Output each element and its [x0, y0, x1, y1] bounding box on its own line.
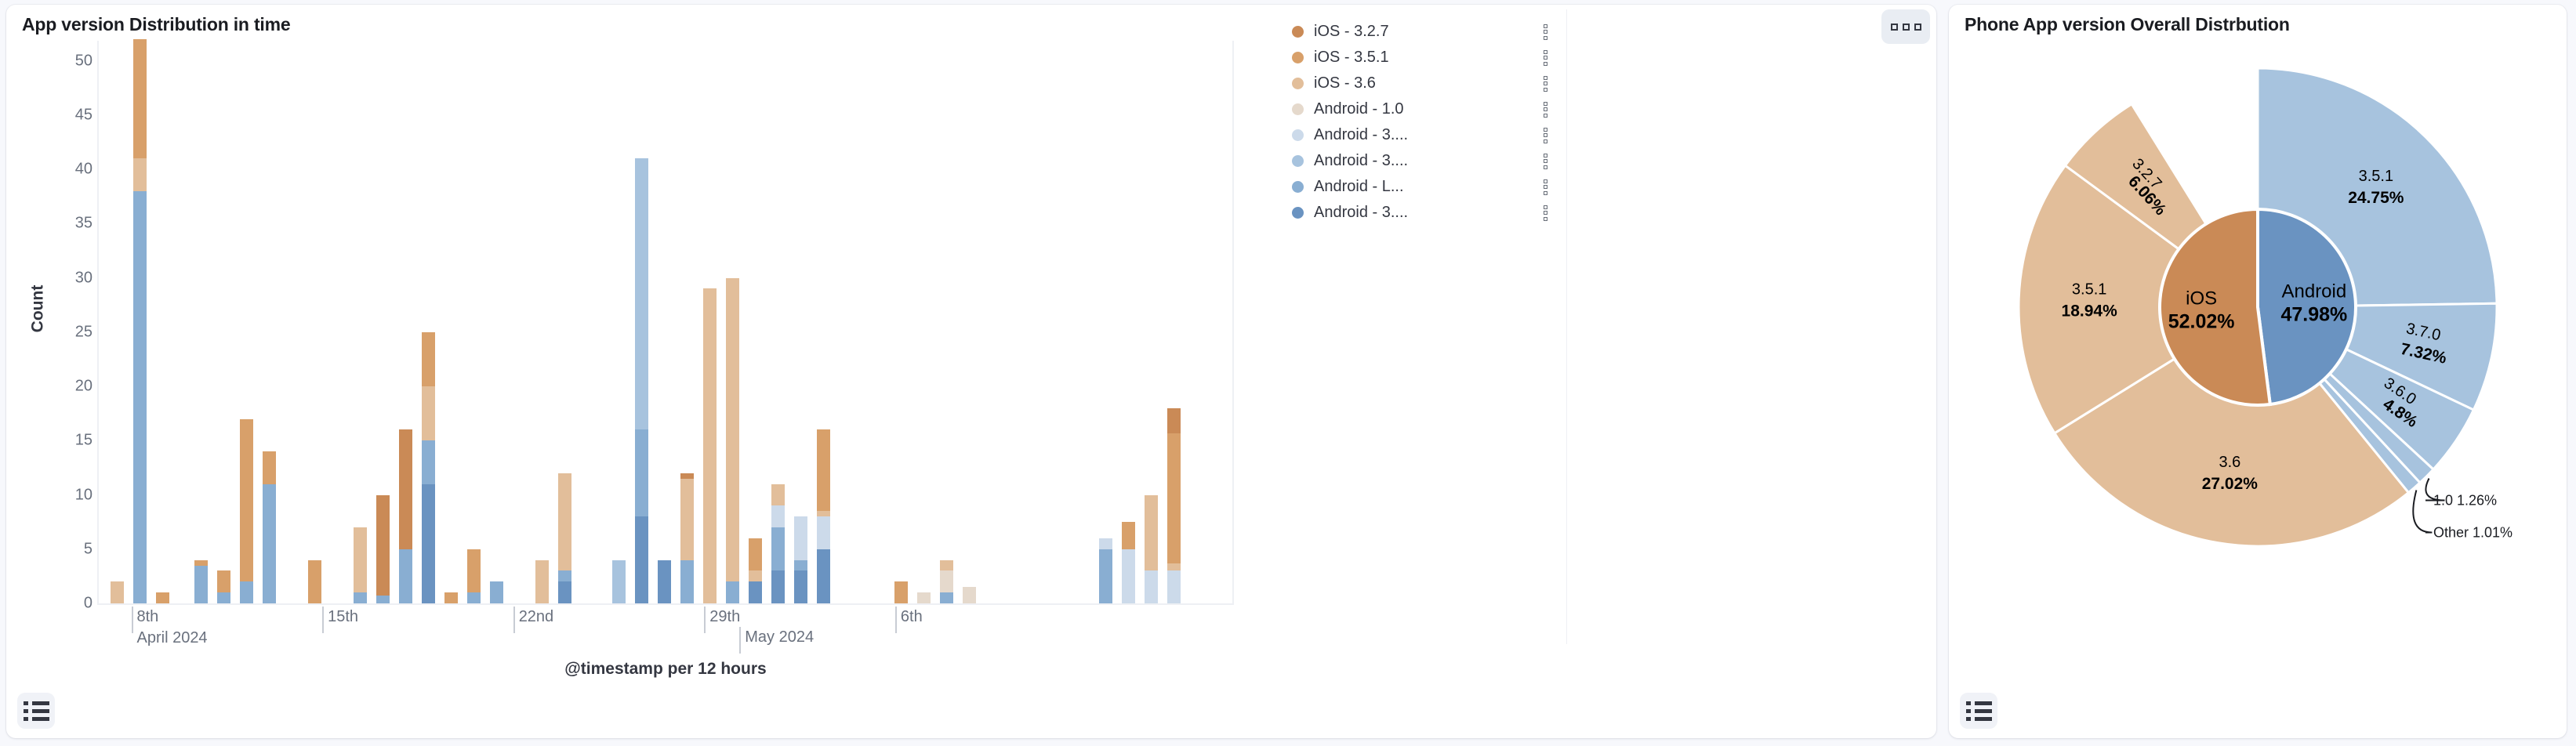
legend-color-dot	[1292, 103, 1304, 115]
legend-item[interactable]: Android - 3....	[1292, 148, 1551, 174]
panel-app-version-distribution: App version Distribution in time Count 0…	[6, 5, 1936, 738]
legend-item-label: Android - 1.0	[1314, 100, 1544, 118]
bar-segment[interactable]	[422, 440, 435, 483]
dashboard: App version Distribution in time Count 0…	[0, 0, 2576, 746]
legend-item-label: Android - 3....	[1314, 204, 1544, 222]
bar-segment[interactable]	[354, 592, 367, 603]
bar-stack[interactable]	[817, 429, 830, 603]
bar-segment[interactable]	[194, 566, 208, 603]
bar-segment[interactable]	[1167, 570, 1181, 603]
y-axis-tick-label: 45	[75, 106, 93, 124]
sunburst-outer-label-value: 27.02%	[2202, 475, 2259, 493]
bar-stack[interactable]	[917, 592, 931, 603]
bar-segment[interactable]	[1099, 538, 1112, 549]
legend-color-dot	[1292, 181, 1304, 193]
list-icon	[24, 701, 49, 721]
x-tick-secondary: April 2024	[137, 628, 208, 649]
sunburst-outer-label-name: 3.5.1	[2359, 168, 2393, 185]
bar-segment[interactable]	[1099, 549, 1112, 603]
bar-segment[interactable]	[1122, 522, 1135, 549]
legend-item-label: Android - L...	[1314, 178, 1544, 196]
y-axis-ticks: 05101520253035404550	[45, 41, 93, 605]
bar-segment[interactable]	[940, 560, 953, 571]
bar-stack[interactable]	[794, 516, 807, 603]
bar-stack[interactable]	[1145, 495, 1158, 603]
plot-area	[97, 41, 1234, 605]
bar-segment[interactable]	[680, 473, 694, 479]
bar-segment[interactable]	[444, 592, 458, 603]
legend-item[interactable]: Android - 1.0	[1292, 96, 1551, 122]
sunburst-inner-label-name: iOS	[2186, 288, 2217, 310]
bar-segment[interactable]	[1167, 408, 1181, 433]
drag-handle-icon[interactable]	[1544, 102, 1547, 118]
bar-segment[interactable]	[749, 581, 762, 603]
ellipsis-icon	[1891, 24, 1898, 31]
bar-segment[interactable]	[680, 560, 694, 603]
drag-handle-icon[interactable]	[1544, 76, 1547, 92]
bar-segment[interactable]	[749, 538, 762, 571]
bar-stack[interactable]	[558, 473, 571, 603]
bar-segment[interactable]	[612, 560, 626, 603]
bar-segment[interactable]	[940, 570, 953, 592]
bar-stack[interactable]	[612, 560, 626, 603]
drag-handle-icon[interactable]	[1544, 24, 1547, 40]
bar-segment[interactable]	[1145, 570, 1158, 603]
bar-segment[interactable]	[963, 587, 976, 603]
x-axis-tick-label: May 2024	[739, 627, 814, 654]
y-axis-tick-label: 25	[75, 323, 93, 341]
sunburst-callout-label: 1.0 1.26%	[2433, 492, 2497, 508]
bar-segment[interactable]	[680, 479, 694, 560]
bar-segment[interactable]	[940, 592, 953, 603]
bar-segment[interactable]	[308, 560, 321, 603]
bar-segment[interactable]	[467, 592, 481, 603]
bar-segment[interactable]	[1167, 433, 1181, 563]
bar-segment[interactable]	[535, 560, 549, 603]
bar-segment[interactable]	[422, 484, 435, 603]
y-axis-tick-label: 50	[75, 52, 93, 70]
bar-segment[interactable]	[1145, 495, 1158, 571]
legend-item[interactable]: iOS - 3.5.1	[1292, 45, 1551, 71]
bar-stack[interactable]	[490, 581, 503, 603]
legend-item-label: Android - 3....	[1314, 126, 1544, 144]
legend-item[interactable]: Android - 3....	[1292, 200, 1551, 226]
bar-segment[interactable]	[635, 516, 648, 603]
x-axis-tick-label: 8thApril 2024	[132, 607, 208, 633]
y-axis-title: Count	[28, 285, 47, 333]
y-axis-tick-label: 20	[75, 378, 93, 396]
bar-segment[interactable]	[376, 495, 390, 596]
bar-stack[interactable]	[1167, 408, 1181, 603]
bar-segment[interactable]	[558, 473, 571, 571]
bar-segment[interactable]	[703, 288, 717, 603]
bar-segment[interactable]	[558, 581, 571, 603]
bar-stack[interactable]	[635, 158, 648, 603]
x-axis-title: @timestamp per 12 hours	[97, 660, 1234, 679]
sunburst-callout-label: Other 1.01%	[2433, 525, 2513, 541]
bar-stack[interactable]	[399, 429, 412, 603]
bar-segment[interactable]	[771, 527, 785, 570]
bar-segment[interactable]	[133, 158, 147, 191]
bar-stack[interactable]	[194, 560, 208, 603]
drag-handle-icon[interactable]	[1544, 179, 1547, 195]
bar-stack[interactable]	[703, 288, 717, 603]
bar-segment[interactable]	[133, 39, 147, 158]
bar-segment[interactable]	[771, 570, 785, 603]
bar-segment[interactable]	[794, 570, 807, 603]
bar-segment[interactable]	[658, 560, 671, 603]
bar-segment[interactable]	[794, 516, 807, 559]
x-tick-primary: 8th	[137, 607, 208, 628]
bar-segment[interactable]	[217, 570, 230, 592]
sunburst-chart: Android47.98%iOS52.02%3.5.124.75%3.7.07.…	[1949, 33, 2567, 715]
bar-stack[interactable]	[111, 581, 124, 603]
x-axis-tick-label: 22nd	[513, 607, 554, 633]
bar-segment[interactable]	[217, 592, 230, 603]
legend-item-label: iOS - 3.6	[1314, 74, 1544, 92]
bar-stack[interactable]	[444, 592, 458, 603]
bar-segment[interactable]	[894, 581, 908, 603]
drag-handle-icon[interactable]	[1544, 154, 1547, 169]
bar-segment[interactable]	[133, 191, 147, 603]
sunburst-svg[interactable]: Android47.98%iOS52.02%3.5.124.75%3.7.07.…	[1949, 33, 2567, 707]
sunburst-outer-label-value: 24.75%	[2348, 189, 2404, 207]
bar-segment[interactable]	[726, 278, 739, 582]
page-title: App version Distribution in time	[22, 14, 290, 35]
y-axis-tick-label: 5	[84, 540, 93, 558]
x-tick-primary: 15th	[328, 607, 358, 628]
bar-stack[interactable]	[658, 560, 671, 603]
bar-segment[interactable]	[635, 158, 648, 429]
x-axis-tick-label: 6th	[895, 607, 923, 633]
bar-segment[interactable]	[817, 549, 830, 603]
bar-segment[interactable]	[817, 429, 830, 511]
bar-stack[interactable]	[308, 560, 321, 603]
x-tick-primary: 29th	[709, 607, 740, 628]
sunburst-outer-label-name: 3.6	[2219, 454, 2240, 471]
legend-item-label: iOS - 3.5.1	[1314, 49, 1544, 67]
drag-handle-icon[interactable]	[1544, 205, 1547, 221]
bar-segment[interactable]	[194, 560, 208, 566]
sunburst-outer-label-name: 3.5.1	[2072, 281, 2106, 298]
bar-segment[interactable]	[467, 549, 481, 592]
legend-item[interactable]: Android - 3....	[1292, 122, 1551, 148]
legend-toggle-button[interactable]	[17, 693, 55, 729]
bar-stack[interactable]	[376, 495, 390, 603]
list-icon	[1966, 701, 1992, 721]
bar-segment[interactable]	[399, 429, 412, 549]
bar-segment[interactable]	[240, 419, 253, 582]
bar-stack[interactable]	[354, 527, 367, 603]
plot-baseline	[99, 603, 1234, 605]
bar-stack[interactable]	[1099, 538, 1112, 603]
legend-item-label: Android - 3....	[1314, 152, 1544, 170]
legend-color-dot	[1292, 26, 1304, 38]
bar-segment[interactable]	[726, 581, 739, 603]
legend-color-dot	[1292, 78, 1304, 89]
plot-right-border	[1232, 41, 1234, 605]
page-title-right: Phone App version Overall Distrbution	[1965, 14, 2290, 35]
y-axis-tick-label: 0	[84, 595, 93, 613]
bar-stack[interactable]	[467, 549, 481, 603]
bar-segment[interactable]	[354, 527, 367, 592]
bar-stack[interactable]	[680, 473, 694, 603]
legend-divider	[1566, 9, 1567, 644]
bar-segment[interactable]	[263, 451, 276, 484]
panel-context-menu-button[interactable]	[1881, 9, 1930, 44]
bar-stack[interactable]	[771, 484, 785, 603]
legend-item[interactable]: Android - L...	[1292, 174, 1551, 200]
legend-color-dot	[1292, 155, 1304, 167]
y-axis-tick-label: 15	[75, 432, 93, 450]
legend-color-dot	[1292, 129, 1304, 141]
bar-stack[interactable]	[240, 419, 253, 603]
bar-stack[interactable]	[422, 332, 435, 603]
bar-segment[interactable]	[917, 592, 931, 603]
legend-toggle-button-right[interactable]	[1960, 693, 1997, 729]
bar-stack[interactable]	[726, 278, 739, 603]
bar-stack[interactable]	[1122, 522, 1135, 603]
x-tick-primary: 6th	[901, 607, 923, 628]
bar-chart: Count 05101520253035404550 8thApril 2024…	[6, 41, 1936, 691]
legend-item[interactable]: iOS - 3.2.7	[1292, 19, 1551, 45]
bar-stack[interactable]	[940, 560, 953, 603]
bar-segment[interactable]	[263, 484, 276, 603]
bar-segment[interactable]	[749, 570, 762, 581]
y-axis-tick-label: 30	[75, 269, 93, 287]
x-tick-primary: May 2024	[745, 627, 814, 648]
legend-item-label: iOS - 3.2.7	[1314, 23, 1544, 41]
legend-item[interactable]: iOS - 3.6	[1292, 71, 1551, 96]
bar-segment[interactable]	[111, 581, 124, 603]
bar-stack[interactable]	[133, 39, 147, 603]
bar-segment[interactable]	[817, 516, 830, 549]
y-axis-tick-label: 40	[75, 161, 93, 179]
ellipsis-icon	[1914, 24, 1921, 31]
y-axis-tick-label: 10	[75, 486, 93, 504]
bar-segment[interactable]	[399, 549, 412, 603]
bar-segment[interactable]	[1122, 549, 1135, 603]
bar-stack[interactable]	[263, 451, 276, 603]
bar-stack[interactable]	[963, 587, 976, 603]
bar-segment[interactable]	[817, 511, 830, 516]
drag-handle-icon[interactable]	[1544, 50, 1547, 66]
sunburst-outer-label-value: 18.94%	[2062, 302, 2118, 320]
bar-stack[interactable]	[894, 581, 908, 603]
bar-segment[interactable]	[240, 581, 253, 603]
bar-segment[interactable]	[156, 592, 169, 603]
drag-handle-icon[interactable]	[1544, 128, 1547, 143]
sunburst-inner-label-value: 47.98%	[2280, 303, 2347, 325]
bar-segment[interactable]	[771, 484, 785, 506]
bar-segment[interactable]	[422, 386, 435, 440]
ellipsis-icon	[1903, 24, 1910, 31]
bar-segment[interactable]	[1167, 563, 1181, 571]
x-axis-tick-label: 29th	[704, 607, 740, 633]
x-tick-primary: 22nd	[519, 607, 554, 628]
sunburst-inner-label-name: Android	[2281, 281, 2346, 302]
bar-segment[interactable]	[376, 596, 390, 603]
panel-app-version-overall: Phone App version Overall Distrbution An…	[1949, 5, 2567, 738]
sunburst-inner-label-value: 52.02%	[2168, 311, 2235, 333]
bar-stack[interactable]	[156, 592, 169, 603]
bar-segment[interactable]	[422, 332, 435, 386]
chart-legend: iOS - 3.2.7iOS - 3.5.1iOS - 3.6Android -…	[1292, 19, 1551, 226]
legend-color-dot	[1292, 207, 1304, 219]
bar-segment[interactable]	[794, 560, 807, 571]
bar-stack[interactable]	[217, 570, 230, 603]
bar-segment[interactable]	[558, 570, 571, 581]
legend-color-dot	[1292, 52, 1304, 63]
bar-stack[interactable]	[535, 560, 549, 603]
x-axis-tick-label: 15th	[322, 607, 358, 633]
x-axis-ticks: 8thApril 202415th22nd29thMay 20246th	[97, 607, 1234, 654]
bar-segment[interactable]	[635, 429, 648, 516]
bar-stack[interactable]	[749, 538, 762, 603]
y-axis-tick-label: 35	[75, 215, 93, 233]
bar-segment[interactable]	[490, 581, 503, 603]
bar-segment[interactable]	[771, 505, 785, 527]
